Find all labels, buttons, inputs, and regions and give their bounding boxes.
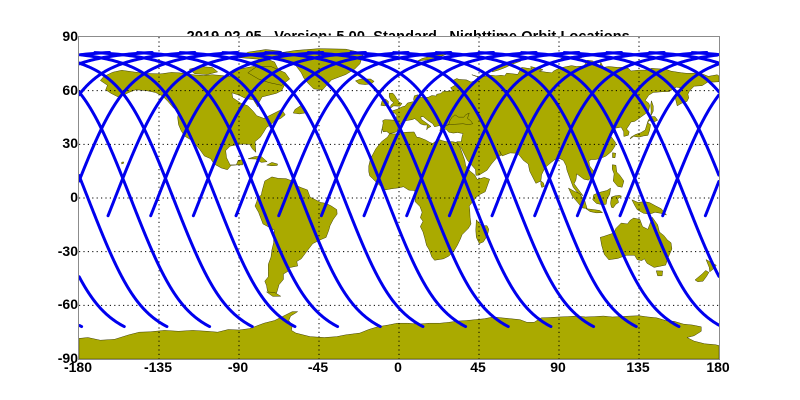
x-tick-label--45: -45 <box>278 360 358 374</box>
landmass-philippines <box>612 165 624 188</box>
landmass-hawaii <box>122 162 124 164</box>
x-tick-label--135: -135 <box>118 360 198 374</box>
orbit-map-figure: 2019-02-05 Version: 5.00 Standard Nightt… <box>0 0 800 400</box>
y-tick-label-30: 30 <box>18 136 78 150</box>
map-plot-area <box>78 36 720 360</box>
landmass-java <box>586 209 603 213</box>
orbit-track-14 <box>79 277 124 327</box>
landmass-sri-lanka <box>541 181 545 187</box>
y-tick-label-0: 0 <box>18 190 78 204</box>
x-tick-label--90: -90 <box>198 360 278 374</box>
x-tick-label-90: 90 <box>518 360 598 374</box>
landmass-sulawesi <box>611 195 622 208</box>
orbit-track-13 <box>80 326 82 327</box>
landmass-uk <box>389 93 402 108</box>
x-tick-label-135: 135 <box>598 360 678 374</box>
x-tick-label-180: 180 <box>678 360 758 374</box>
x-tick-label--180: -180 <box>38 360 118 374</box>
y-tick-label--30: -30 <box>18 244 78 258</box>
landmass-tierra-del-fuego <box>267 292 281 296</box>
landmass-hispaniola <box>267 162 278 165</box>
y-tick-label-90: 90 <box>18 29 78 43</box>
landmass-taiwan <box>613 153 616 158</box>
y-tick-label-60: 60 <box>18 83 78 97</box>
y-tick-label--60: -60 <box>18 297 78 311</box>
x-tick-label-0: 0 <box>358 360 438 374</box>
landmass-new-zealand-s <box>695 270 709 281</box>
orbit-track-9-seg2 <box>705 182 718 216</box>
landmass-tasmania <box>656 271 662 276</box>
landmass-sakhalin <box>651 101 653 116</box>
x-tick-label-45: 45 <box>438 360 518 374</box>
world-map <box>79 37 719 359</box>
landmass-south-america <box>255 177 337 296</box>
